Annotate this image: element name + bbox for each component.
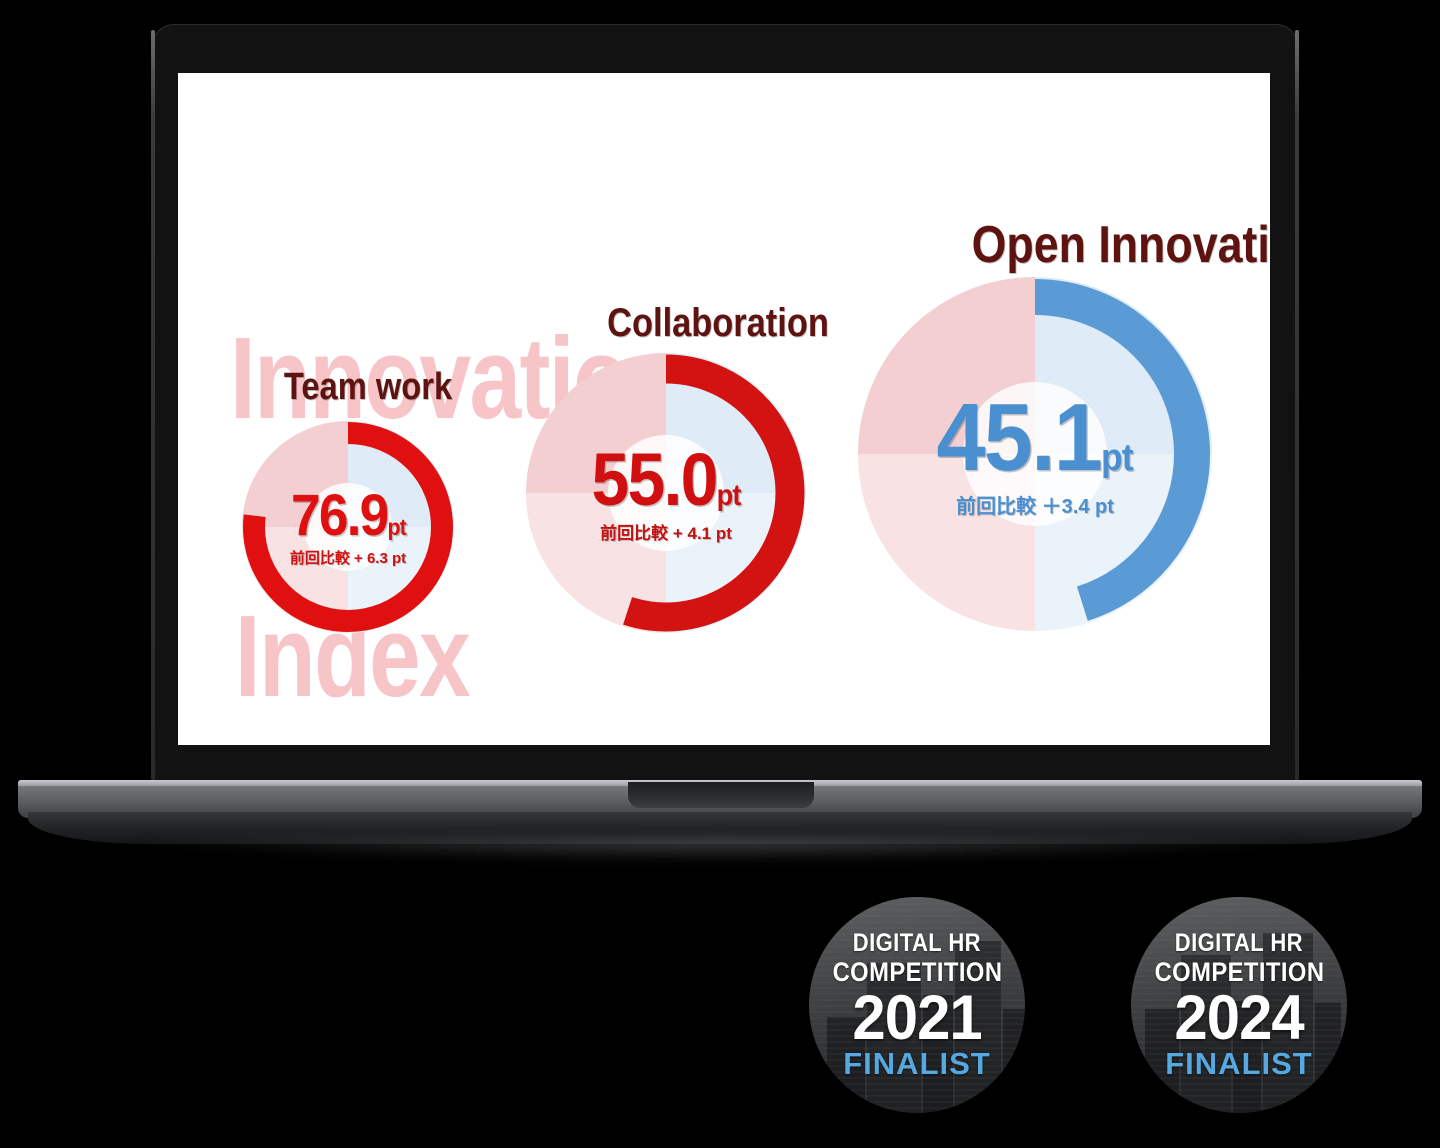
- laptop-shadow: [120, 838, 1320, 862]
- badge-year: 2021: [852, 987, 981, 1050]
- lid-edge-right: [1295, 30, 1299, 780]
- presentation-slide: Innovation Index Team work Collaboration…: [178, 73, 1270, 745]
- laptop-screen: Innovation Index Team work Collaboration…: [178, 73, 1270, 745]
- chart-title-open-innovation: Open Innovation: [830, 215, 1270, 275]
- badge-text-block: DIGITAL HR COMPETITION 2024 FINALIST: [1131, 897, 1347, 1113]
- donut-svg-team-work: [236, 415, 460, 639]
- donut-chart-open-innovation: 45.1pt 前回比較 ＋3.4 pt: [850, 269, 1220, 639]
- badge-year: 2024: [1174, 987, 1303, 1050]
- award-badge-2024: DIGITAL HR COMPETITION 2024 FINALIST: [1104, 870, 1374, 1140]
- donut-chart-collaboration: 55.0pt 前回比較 + 4.1 pt: [518, 345, 814, 641]
- badge-line-2: COMPETITION: [1154, 959, 1324, 986]
- donut-svg-collaboration: [518, 345, 814, 641]
- donut-svg-open-innovation: [850, 269, 1220, 639]
- badge-line-1: DIGITAL HR: [853, 931, 981, 956]
- badge-text-block: DIGITAL HR COMPETITION 2021 FINALIST: [809, 897, 1025, 1113]
- badge-line-1: DIGITAL HR: [1175, 931, 1303, 956]
- badge-line-2: COMPETITION: [832, 959, 1002, 986]
- donut-chart-team-work: 76.9pt 前回比較 + 6.3 pt: [236, 415, 460, 639]
- laptop-lid-notch: [628, 782, 814, 808]
- donut-hole: [963, 382, 1107, 526]
- lid-edge-left: [151, 30, 155, 780]
- donut-hole: [608, 435, 724, 551]
- chart-title-team-work: Team work: [205, 366, 532, 409]
- badge-disc: DIGITAL HR COMPETITION 2021 FINALIST: [809, 897, 1025, 1113]
- badge-disc: DIGITAL HR COMPETITION 2024 FINALIST: [1131, 897, 1347, 1113]
- award-badge-2021: DIGITAL HR COMPETITION 2021 FINALIST: [782, 870, 1052, 1140]
- donut-hole: [304, 483, 392, 571]
